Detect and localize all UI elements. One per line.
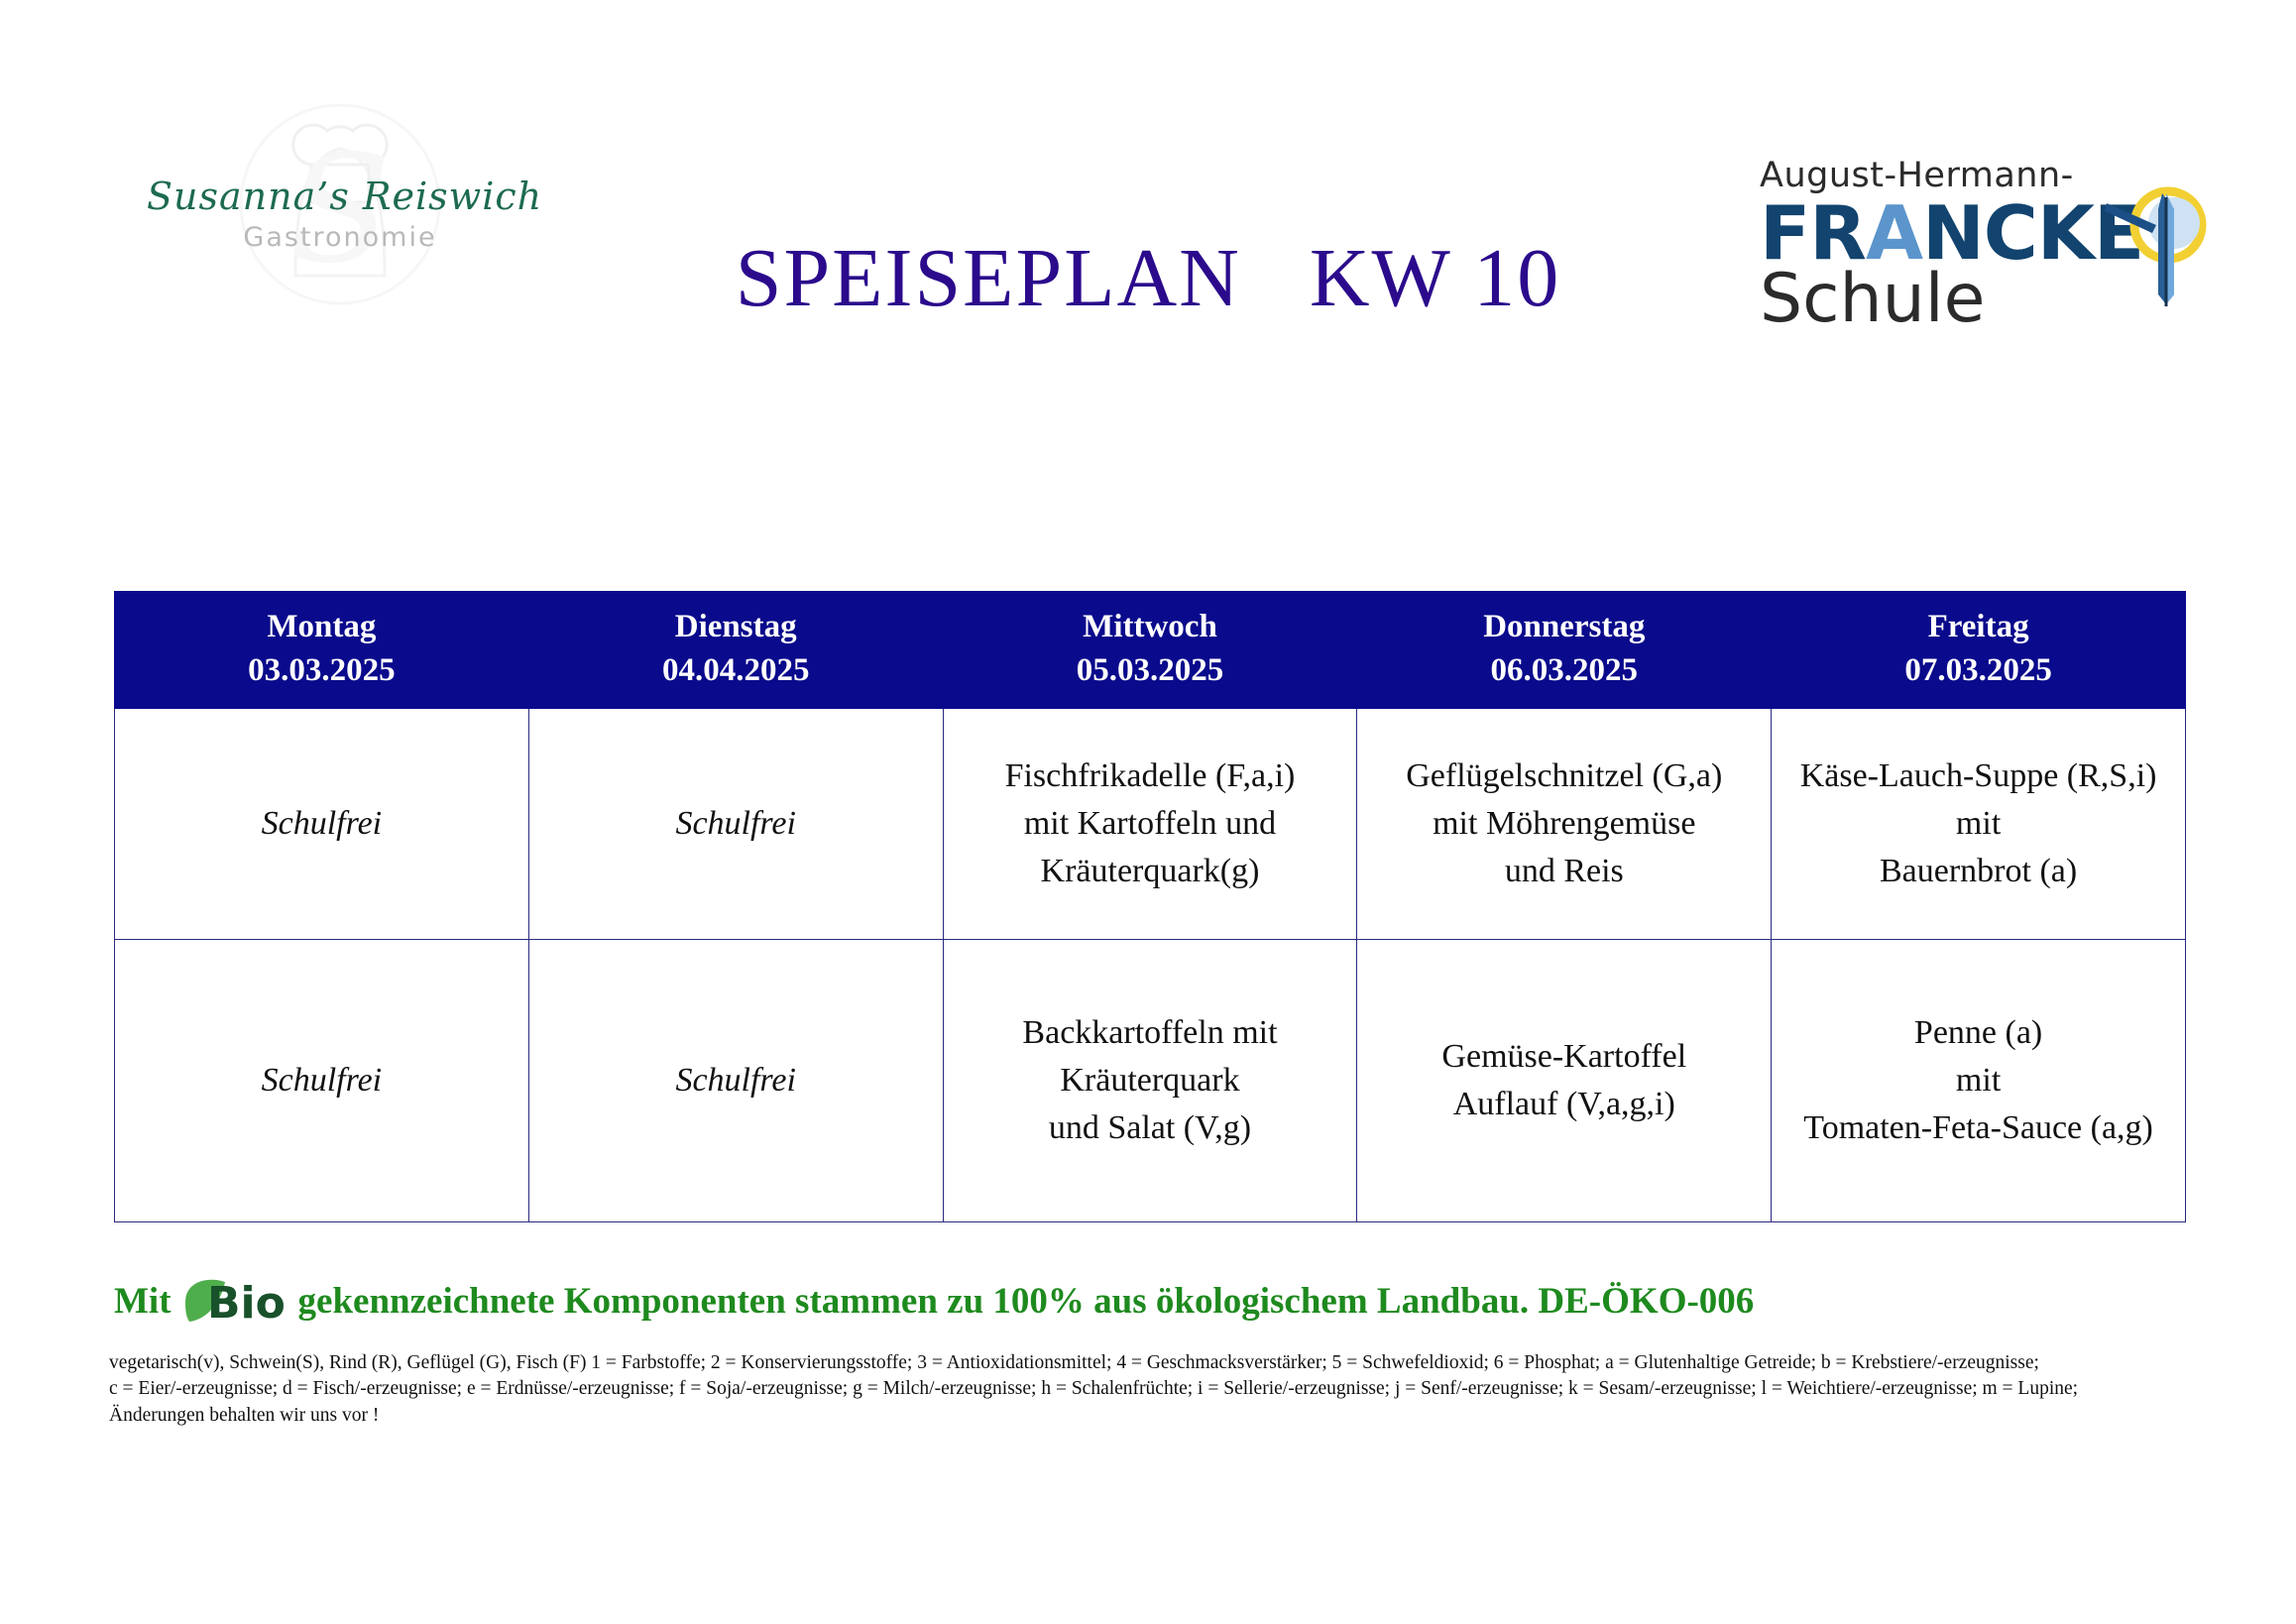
day-date: 06.03.2025 <box>1363 649 1765 693</box>
menu-line: Kräuterquark <box>954 1057 1347 1104</box>
bio-note: Mit Bio gekennzeichnete Komponenten stam… <box>114 1272 1754 1330</box>
quill-pen-mark-icon <box>2099 174 2218 312</box>
menu-line: Penne (a) <box>1781 1009 2175 1057</box>
menu-cell: Käse-Lauch-Suppe (R,S,i) mit Bauernbrot … <box>1772 709 2186 940</box>
day-date: 04.04.2025 <box>535 649 937 693</box>
day-header-dienstag: Dienstag 04.04.2025 <box>528 592 943 709</box>
menu-cell: Gemüse-Kartoffel Auflauf (V,a,g,i) <box>1357 940 1772 1222</box>
menu-line: Schulfrei <box>125 800 518 848</box>
menu-cell: Schulfrei <box>528 940 943 1222</box>
menu-line: Schulfrei <box>539 1057 933 1104</box>
day-name: Montag <box>121 606 522 649</box>
day-header-mittwoch: Mittwoch 05.03.2025 <box>943 592 1357 709</box>
school-logo: August-Hermann- FRANCKE Schule <box>1760 159 2176 347</box>
menu-cell: Penne (a) mit Tomaten-Feta-Sauce (a,g) <box>1772 940 2186 1222</box>
day-date: 05.03.2025 <box>950 649 1351 693</box>
menu-line: Schulfrei <box>125 1057 518 1104</box>
menu-line: Käse-Lauch-Suppe (R,S,i) <box>1781 753 2175 800</box>
svg-text:Bio: Bio <box>207 1278 286 1329</box>
menu-table-header: Montag 03.03.2025 Dienstag 04.04.2025 Mi… <box>115 592 2186 709</box>
allergen-legend-line: c = Eier/-erzeugnisse; d = Fisch/-erzeug… <box>109 1376 2211 1402</box>
day-name: Mittwoch <box>950 606 1351 649</box>
day-name: Donnerstag <box>1363 606 1765 649</box>
allergen-legend: vegetarisch(v), Schwein(S), Rind (R), Ge… <box>109 1350 2211 1429</box>
day-date: 07.03.2025 <box>1778 649 2179 693</box>
day-header-freitag: Freitag 07.03.2025 <box>1772 592 2186 709</box>
menu-cell: Geflügelschnitzel (G,a) mit Möhrengemüse… <box>1357 709 1772 940</box>
school-logo-line2-accent: A <box>1866 189 1922 277</box>
school-logo-line2-a: FR <box>1760 189 1866 277</box>
menu-cell: Schulfrei <box>528 709 943 940</box>
day-header-donnerstag: Donnerstag 06.03.2025 <box>1357 592 1772 709</box>
menu-table-body: Schulfrei Schulfrei Fischfrikadelle (F,a… <box>115 709 2186 1222</box>
menu-line: und Reis <box>1367 848 1761 895</box>
menu-row-main-dish: Schulfrei Schulfrei Fischfrikadelle (F,a… <box>115 709 2186 940</box>
menu-line: mit Möhrengemüse <box>1367 800 1761 848</box>
day-name: Freitag <box>1778 606 2179 649</box>
document-header: S Susanna’s Reiswich Gastronomie SPEISEP… <box>0 0 2296 397</box>
menu-line: und Salat (V,g) <box>954 1104 1347 1152</box>
menu-cell: Schulfrei <box>115 709 529 940</box>
day-header-montag: Montag 03.03.2025 <box>115 592 529 709</box>
menu-line: Tomaten-Feta-Sauce (a,g) <box>1781 1104 2175 1152</box>
allergen-legend-line: Änderungen behalten wir uns vor ! <box>109 1403 2211 1429</box>
menu-line: Bauernbrot (a) <box>1781 848 2175 895</box>
menu-table: Montag 03.03.2025 Dienstag 04.04.2025 Mi… <box>114 591 2186 1222</box>
menu-line: Schulfrei <box>539 800 933 848</box>
day-name: Dienstag <box>535 606 937 649</box>
menu-line: Backkartoffeln mit <box>954 1009 1347 1057</box>
day-date: 03.03.2025 <box>121 649 522 693</box>
menu-line: Geflügelschnitzel (G,a) <box>1367 753 1761 800</box>
menu-line: mit <box>1781 1057 2175 1104</box>
school-logo-line2: FRANCKE <box>1760 195 2176 272</box>
menu-line: Auflauf (V,a,g,i) <box>1367 1081 1761 1128</box>
menu-line: mit <box>1781 800 2175 848</box>
menu-line: mit Kartoffeln und <box>954 800 1347 848</box>
bio-note-prefix: Mit <box>114 1280 172 1323</box>
restaurant-logo-name: Susanna’s Reiswich <box>147 174 533 218</box>
bio-note-text: gekennzeichnete Komponenten stammen zu 1… <box>298 1280 1755 1323</box>
menu-cell: Schulfrei <box>115 940 529 1222</box>
allergen-legend-line: vegetarisch(v), Schwein(S), Rind (R), Ge… <box>109 1350 2211 1376</box>
menu-line: Kräuterquark(g) <box>954 848 1347 895</box>
menu-table-header-row: Montag 03.03.2025 Dienstag 04.04.2025 Mi… <box>115 592 2186 709</box>
bio-logo-icon: Bio <box>181 1272 288 1330</box>
menu-row-alt-dish: Schulfrei Schulfrei Backkartoffeln mit K… <box>115 940 2186 1222</box>
menu-cell: Backkartoffeln mit Kräuterquark und Sala… <box>943 940 1357 1222</box>
menu-cell: Fischfrikadelle (F,a,i) mit Kartoffeln u… <box>943 709 1357 940</box>
menu-line: Gemüse-Kartoffel <box>1367 1033 1761 1081</box>
menu-line: Fischfrikadelle (F,a,i) <box>954 753 1347 800</box>
